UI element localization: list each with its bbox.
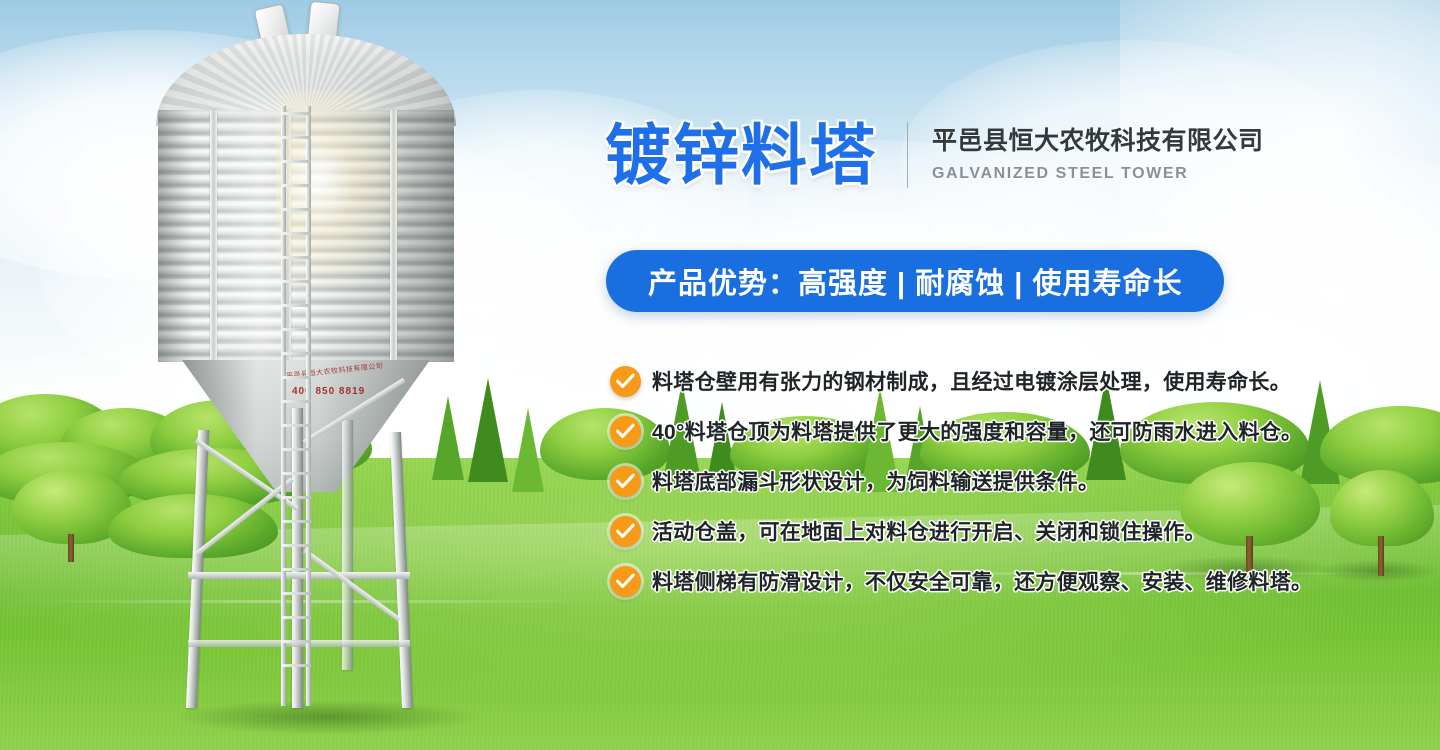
silo-leg [390, 432, 413, 708]
feature-text: 料塔底部漏斗形状设计，为饲料输送提供条件。 [652, 466, 1099, 496]
feature-text: 料塔仓壁用有张力的钢材制成，且经过电镀涂层处理，使用寿命长。 [652, 366, 1291, 396]
ladder-rung [281, 328, 311, 331]
feature-text: 40°料塔仓顶为料塔提供了更大的强度和容量，还可防雨水进入料仓。 [652, 416, 1302, 446]
ladder-rung [281, 304, 311, 307]
company-name-en: GALVANIZED STEEL TOWER [932, 165, 1264, 183]
silo-leg [186, 430, 209, 708]
check-circle-icon [610, 566, 641, 597]
silo-brace [194, 477, 293, 556]
ladder-rung [281, 616, 311, 619]
ladder-rung [281, 472, 311, 475]
advantage-pill: 产品优势：高强度 | 耐腐蚀 | 使用寿命长 [606, 250, 1224, 312]
feature-item: 料塔仓壁用有张力的钢材制成，且经过电镀涂层处理，使用寿命长。 [610, 356, 1440, 406]
feature-text: 料塔侧梯有防滑设计，不仅安全可靠，还方便观察、安装、维修料塔。 [652, 566, 1312, 596]
hero-copy-panel: 镀锌料塔 平邑县恒大农牧科技有限公司 GALVANIZED STEEL TOWE… [600, 0, 1440, 750]
check-circle-icon [610, 366, 641, 397]
ladder-rung [281, 160, 311, 163]
ladder-rung [281, 424, 311, 427]
ladder-rung [281, 520, 311, 523]
company-block: 平邑县恒大农牧科技有限公司 GALVANIZED STEEL TOWER [932, 127, 1264, 183]
silo-seam [390, 110, 397, 362]
ladder-rung [281, 184, 311, 187]
ladder-rung [281, 352, 311, 355]
ladder-rung [281, 664, 311, 667]
ladder-rung [281, 568, 311, 571]
title-divider [907, 122, 908, 188]
company-name-cn: 平邑县恒大农牧科技有限公司 [932, 127, 1264, 156]
ladder-rung [281, 280, 311, 283]
feature-item: 料塔底部漏斗形状设计，为饲料输送提供条件。 [610, 456, 1440, 506]
ladder-rung [281, 496, 311, 499]
feature-item: 料塔侧梯有防滑设计，不仅安全可靠，还方便观察、安装、维修料塔。 [610, 556, 1440, 606]
ladder-rung [281, 136, 311, 139]
feature-item: 活动仓盖，可在地面上对料仓进行开启、关闭和锁住操作。 [610, 506, 1440, 556]
ladder-rung [281, 640, 311, 643]
ladder-rung [281, 448, 311, 451]
check-circle-icon [610, 416, 641, 447]
ladder-rung [281, 256, 311, 259]
feature-text: 活动仓盖，可在地面上对料仓进行开启、关闭和锁住操作。 [652, 516, 1206, 546]
silo-seam [210, 110, 217, 362]
ladder-rung [281, 592, 311, 595]
galvanized-silo-image: 平邑县恒大农牧科技有限公司 400 850 8819 [96, 0, 516, 750]
ladder-rung [281, 400, 311, 403]
ladder-rung [281, 112, 311, 115]
page-title: 镀锌料塔 [605, 122, 877, 188]
check-circle-icon [610, 516, 641, 547]
silo-side-ladder [281, 106, 311, 706]
product-hero-banner: 平邑县恒大农牧科技有限公司 400 850 8819 [0, 0, 1440, 750]
headline-row: 镀锌料塔 平邑县恒大农牧科技有限公司 GALVANIZED STEEL TOWE… [605, 122, 1264, 188]
feature-item: 40°料塔仓顶为料塔提供了更大的强度和容量，还可防雨水进入料仓。 [610, 406, 1440, 456]
check-circle-icon [610, 466, 641, 497]
ladder-rung [281, 208, 311, 211]
ladder-rung [281, 376, 311, 379]
silo-leg [342, 420, 353, 670]
silo-ground-shadow [176, 700, 476, 734]
feature-list: 料塔仓壁用有张力的钢材制成，且经过电镀涂层处理，使用寿命长。40°料塔仓顶为料塔… [610, 356, 1440, 606]
ladder-rung [281, 544, 311, 547]
ladder-rung [281, 232, 311, 235]
advantage-pill-text: 产品优势：高强度 | 耐腐蚀 | 使用寿命长 [648, 260, 1182, 302]
